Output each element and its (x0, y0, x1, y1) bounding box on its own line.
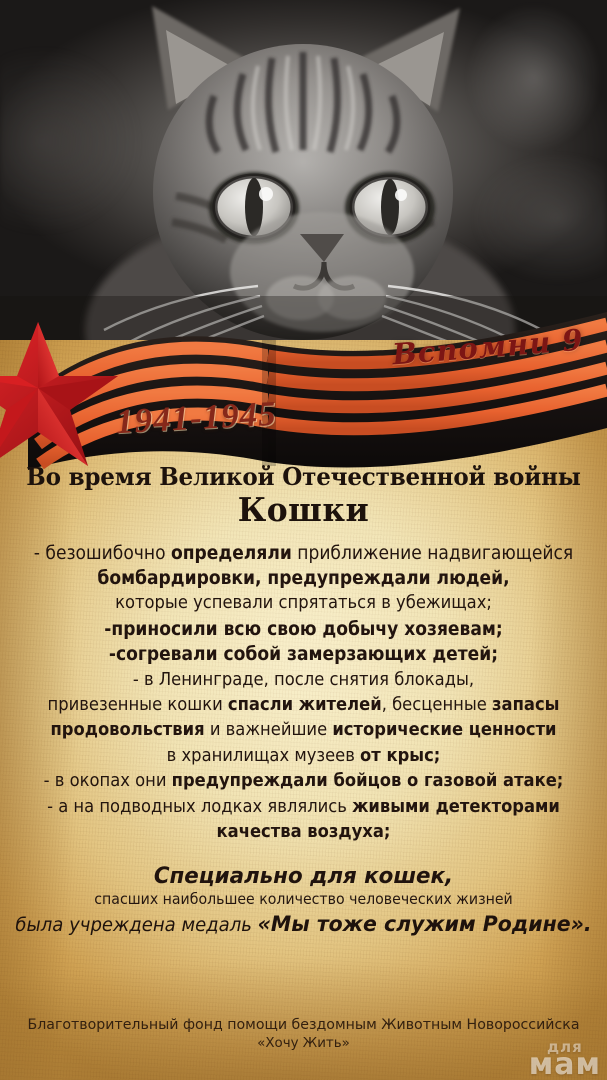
years-label: 1941-1945 (115, 394, 278, 442)
bullet-b6: - в Ленинграде, после снятия блокады, (21, 668, 586, 693)
heading-main: Кошки (15, 493, 592, 528)
bullet-text-run: бомбардировки, предупреждали людей, (97, 568, 509, 589)
bullet-b5: -согревали собой замерзающих детей; (21, 642, 586, 667)
bullet-text-run: живыми детекторами (352, 797, 560, 817)
bullet-b3: которые успевали спрятаться в убежищах; (21, 591, 586, 616)
bullet-text-run: качества воздуха; (217, 822, 391, 842)
bullet-text-run: в хранилищах музеев (167, 746, 360, 766)
bullet-text-run: от крыс; (360, 746, 440, 766)
poster-content: Во время Великой Отечественной войны Кош… (0, 464, 607, 937)
bullet-b11: - а на подводных лодках являлись живыми … (21, 795, 586, 820)
footer-line-1: Благотворительный фонд помощи бездомным … (9, 1016, 598, 1034)
bullet-b12: качества воздуха; (21, 820, 586, 845)
poster: Вспомни 9 1941-1945 Во время Великой Оте… (0, 0, 607, 1080)
medal-prefix: была учреждена медаль (15, 914, 257, 936)
bullet-text-run: и важнейшие (205, 720, 333, 740)
bullet-list: - безошибочно определяли приближение над… (0, 541, 607, 846)
bullet-b10: - в окопах они предупреждали бойцов о га… (21, 769, 586, 794)
heading-top: Во время Великой Отечественной войны (18, 464, 589, 490)
bullet-text-run: -согревали собой замерзающих детей; (109, 644, 498, 665)
bullet-text-run: определяли (171, 543, 292, 564)
bullet-text-run: запасы (492, 695, 559, 715)
bullet-text-run: предупреждали бойцов о газовой атаке; (172, 771, 564, 791)
saved-subtitle: спасших наибольшее количество человеческ… (21, 891, 586, 908)
bullet-text-run: , бесценные (382, 695, 492, 715)
bullet-b4: -приносили всю свою добычу хозяевам; (21, 617, 586, 642)
bullet-text-run: -приносили всю свою добычу хозяевам; (104, 619, 502, 640)
medal-line: была учреждена медаль «Мы тоже служим Ро… (15, 913, 592, 938)
bullet-text-run: - в окопах они (44, 771, 172, 791)
bullet-text-run: - а на подводных лодках являлись (47, 797, 352, 817)
bullet-text-run: спасли жителей (228, 695, 382, 715)
bullet-text-run: приближение надвигающейся (292, 543, 573, 564)
medal-quote: «Мы тоже служим Родине». (258, 912, 592, 937)
special-title: Специально для кошек, (15, 864, 592, 889)
bullet-b7: привезенные кошки спасли жителей, бесцен… (21, 693, 586, 718)
footer-line-2: «Хочу Жить» (0, 1035, 607, 1052)
bullet-b2: бомбардировки, предупреждали людей, (21, 566, 586, 591)
bullet-text-run: - безошибочно (34, 543, 171, 564)
footer-credit: Благотворительный фонд помощи бездомным … (0, 1016, 607, 1053)
bullet-b8: продовольствия и важнейшие исторические … (21, 718, 586, 743)
bullet-text-run: - в Ленинграде, после снятия блокады, (133, 670, 474, 690)
bullet-text-run: продовольствия (50, 720, 204, 740)
bullet-b1: - безошибочно определяли приближение над… (21, 541, 586, 566)
bullet-text-run: привезенные кошки (48, 695, 228, 715)
bullet-text-run: которые успевали спрятаться в убежищах; (115, 593, 492, 613)
bullet-b9: в хранилищах музеев от крыс; (21, 744, 586, 769)
bullet-text-run: исторические ценности (332, 720, 556, 740)
red-star-icon (0, 318, 118, 470)
